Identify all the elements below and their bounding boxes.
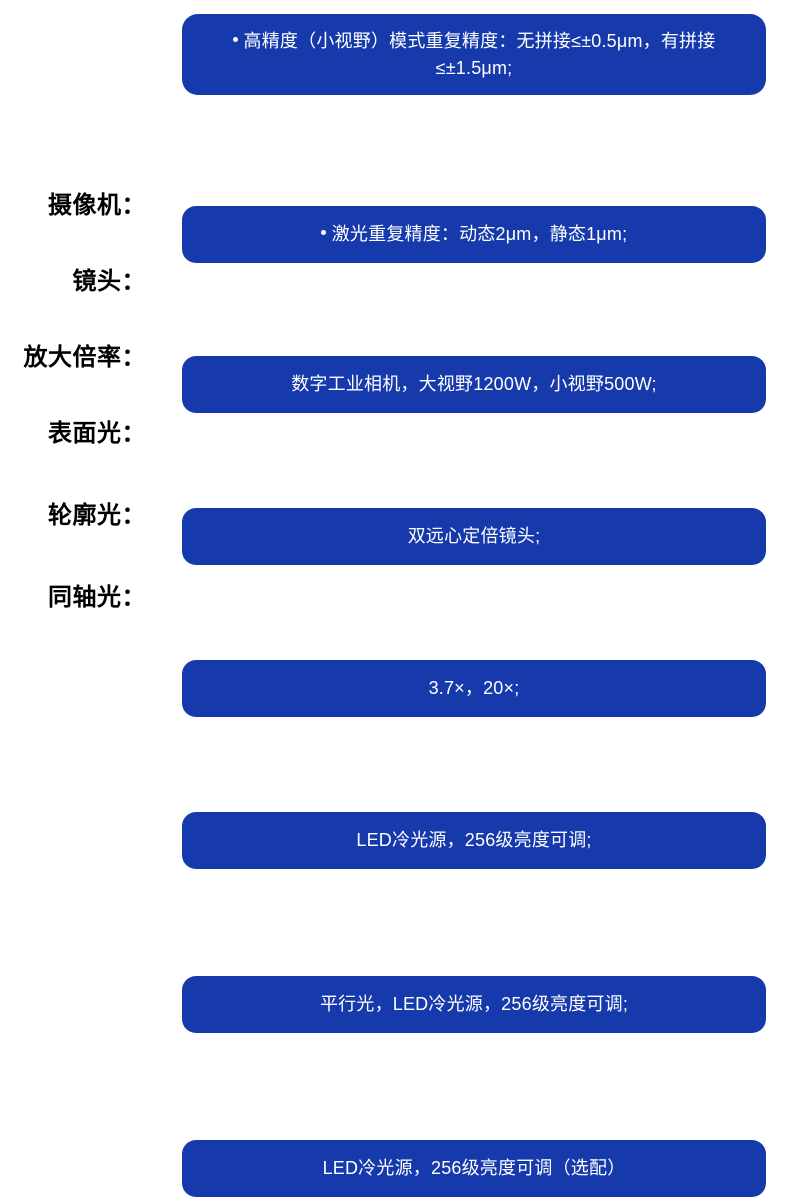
spec-value-pill: LED冷光源，256级亮度可调;	[182, 812, 766, 869]
spec-value-text: LED冷光源，256级亮度可调;	[356, 827, 591, 853]
spec-row-label: 摄像机：	[0, 193, 146, 219]
spec-value-pill: 3.7×，20×;	[182, 660, 766, 717]
spec-row: 摄像机： 数字工业相机，大视野1200W，小视野500W;	[0, 178, 790, 235]
spec-row: 轮廓光： 平行光，LED冷光源，256级亮度可调;	[0, 488, 790, 545]
spec-value-line-1: 高精度（小视野）模式重复精度：无拼接≤±0.5μm，有拼接	[244, 31, 716, 51]
spec-row: 高精度（小视野）模式重复精度：无拼接≤±0.5μm，有拼接 ≤±1.5μm;	[0, 7, 790, 88]
spec-row: 镜头： 双远心定倍镜头;	[0, 254, 790, 311]
spec-value-pill: 平行光，LED冷光源，256级亮度可调;	[182, 976, 766, 1033]
spec-row-label: 轮廓光：	[0, 503, 146, 529]
spec-value-text: LED冷光源，256级亮度可调（选配）	[323, 1155, 626, 1181]
specification-sheet: 高精度（小视野）模式重复精度：无拼接≤±0.5μm，有拼接 ≤±1.5μm; 激…	[0, 0, 790, 696]
spec-row-label: 表面光：	[0, 421, 146, 447]
spec-value-text: 平行光，LED冷光源，256级亮度可调;	[320, 991, 628, 1017]
spec-value-pill: LED冷光源，256级亮度可调（选配）	[182, 1140, 766, 1197]
spec-row: 表面光： LED冷光源，256级亮度可调;	[0, 406, 790, 463]
spec-row-label: 放大倍率：	[0, 345, 146, 371]
spec-row-label: 镜头：	[0, 269, 146, 295]
bullet-icon	[233, 37, 238, 42]
spec-row-label: 同轴光：	[0, 585, 146, 611]
spec-row: 激光重复精度：动态2μm，静态1μm;	[0, 103, 790, 160]
spec-row: 放大倍率： 3.7×，20×;	[0, 330, 790, 387]
spec-value-line-2: ≤±1.5μm;	[200, 55, 748, 81]
spec-value-text: 3.7×，20×;	[429, 675, 520, 701]
spec-value-text: 高精度（小视野）模式重复精度：无拼接≤±0.5μm，有拼接 ≤±1.5μm;	[200, 28, 748, 80]
spec-value-pill: 高精度（小视野）模式重复精度：无拼接≤±0.5μm，有拼接 ≤±1.5μm;	[182, 14, 766, 95]
spec-row: 同轴光： LED冷光源，256级亮度可调（选配）	[0, 570, 790, 627]
